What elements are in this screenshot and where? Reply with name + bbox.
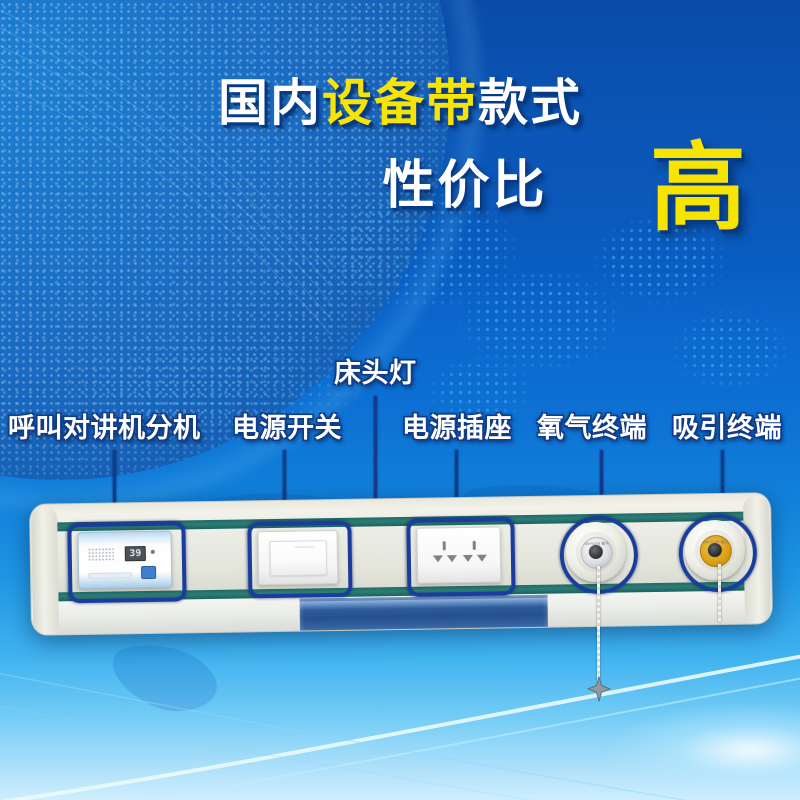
callout-label-power-socket: 电源插座 bbox=[402, 415, 512, 442]
callout-label-suction: 吸引终端 bbox=[672, 415, 782, 442]
headline: 国内设备带款式 bbox=[0, 78, 800, 128]
callout-label-oxygen: 氧气终端 bbox=[537, 415, 647, 442]
bed-head-unit: 39 bbox=[29, 492, 773, 636]
callout-label-bed-lamp: 床头灯 bbox=[334, 360, 417, 387]
headline-segment-3: 款式 bbox=[478, 74, 582, 132]
highlight-box-power-switch bbox=[247, 521, 352, 599]
callout-label-intercom: 呼叫对讲机分机 bbox=[8, 415, 201, 442]
pull-cord-oxygen[interactable] bbox=[597, 566, 600, 681]
headline-segment-1: 国内 bbox=[218, 74, 322, 132]
highlight-box-power-socket bbox=[406, 517, 515, 597]
pull-cord-suction[interactable] bbox=[718, 564, 721, 622]
headline-big-char: 高 bbox=[650, 140, 746, 236]
subheadline: 性价比 bbox=[300, 160, 630, 212]
headline-segment-2: 设备带 bbox=[322, 74, 478, 132]
world-map-dots-left bbox=[0, 300, 420, 480]
highlight-box-intercom bbox=[67, 521, 186, 603]
end-cap-left bbox=[31, 506, 59, 634]
pull-cord-weight-icon bbox=[586, 676, 612, 702]
poster-canvas: 国内设备带款式 性价比 高 呼叫对讲机分机 电源开关 床头灯 电源插座 氧气终端… bbox=[0, 0, 800, 800]
callout-label-power-switch: 电源开关 bbox=[232, 415, 342, 442]
horizon-flare bbox=[540, 620, 800, 800]
